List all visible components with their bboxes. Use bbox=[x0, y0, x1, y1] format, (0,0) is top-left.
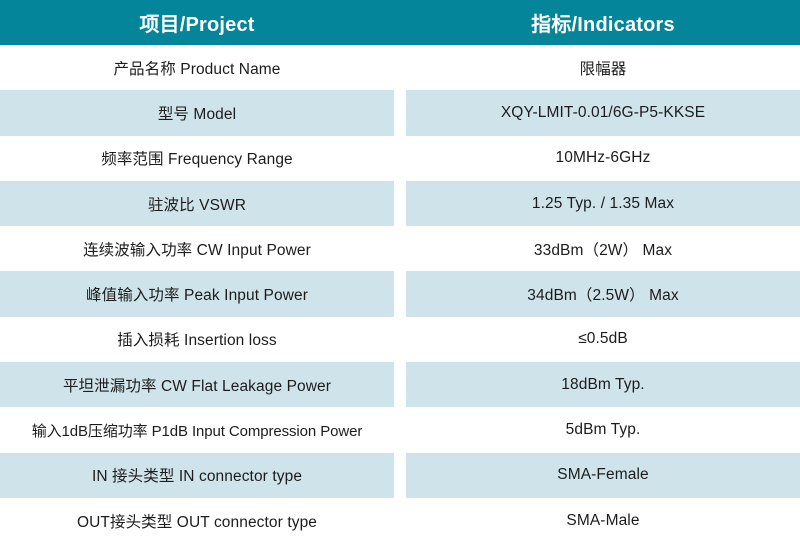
table-header-row: 项目/Project 指标/Indicators bbox=[0, 0, 800, 45]
row-value: SMA-Female bbox=[557, 466, 648, 484]
column-divider bbox=[394, 45, 406, 90]
row-label: 连续波输入功率 CW Input Power bbox=[83, 238, 311, 260]
row-value: 34dBm（2.5W） Max bbox=[527, 283, 678, 305]
column-divider bbox=[394, 136, 406, 181]
table-row: 产品名称 Product Name 限幅器 bbox=[0, 45, 800, 90]
table-row: OUT接头类型 OUT connector type SMA-Male bbox=[0, 498, 800, 544]
table-row: 平坦泄漏功率 CW Flat Leakage Power 18dBm Typ. bbox=[0, 362, 800, 407]
row-label: 输入1dB压缩功率 P1dB Input Compression Power bbox=[32, 420, 363, 441]
column-divider bbox=[394, 407, 406, 452]
row-value: 1.25 Typ. / 1.35 Max bbox=[532, 195, 674, 213]
table-row: 型号 Model XQY-LMIT-0.01/6G-P5-KKSE bbox=[0, 90, 800, 135]
row-label: 产品名称 Product Name bbox=[113, 57, 280, 79]
row-label: 驻波比 VSWR bbox=[148, 193, 246, 215]
table-row: 输入1dB压缩功率 P1dB Input Compression Power 5… bbox=[0, 407, 800, 452]
row-value-cell: 限幅器 bbox=[406, 45, 800, 90]
row-value: 10MHz-6GHz bbox=[556, 149, 651, 167]
column-header-project: 项目/Project bbox=[0, 0, 394, 45]
row-label: 型号 Model bbox=[158, 102, 236, 124]
row-label-cell: 连续波输入功率 CW Input Power bbox=[0, 226, 394, 271]
column-divider bbox=[394, 90, 406, 135]
column-divider bbox=[394, 498, 406, 544]
row-label-cell: 插入损耗 Insertion loss bbox=[0, 317, 394, 362]
row-value: 18dBm Typ. bbox=[561, 376, 644, 394]
row-value-cell: XQY-LMIT-0.01/6G-P5-KKSE bbox=[406, 90, 800, 135]
row-label: 平坦泄漏功率 CW Flat Leakage Power bbox=[63, 374, 331, 396]
row-value: SMA-Male bbox=[566, 512, 639, 530]
row-value: ≤0.5dB bbox=[578, 330, 628, 348]
row-value-cell: 33dBm（2W） Max bbox=[406, 226, 800, 271]
row-value: 限幅器 bbox=[580, 57, 627, 79]
row-label-cell: 驻波比 VSWR bbox=[0, 181, 394, 226]
column-header-indicators-label: 指标/Indicators bbox=[531, 8, 675, 37]
table-row: 峰值输入功率 Peak Input Power 34dBm（2.5W） Max bbox=[0, 271, 800, 316]
row-value-cell: SMA-Female bbox=[406, 453, 800, 498]
row-label: IN 接头类型 IN connector type bbox=[92, 464, 302, 486]
row-label: 峰值输入功率 Peak Input Power bbox=[86, 283, 308, 305]
row-label: 插入损耗 Insertion loss bbox=[117, 328, 277, 350]
row-label-cell: 平坦泄漏功率 CW Flat Leakage Power bbox=[0, 362, 394, 407]
row-value-cell: ≤0.5dB bbox=[406, 317, 800, 362]
row-label-cell: 峰值输入功率 Peak Input Power bbox=[0, 271, 394, 316]
table-row: 连续波输入功率 CW Input Power 33dBm（2W） Max bbox=[0, 226, 800, 271]
row-label: OUT接头类型 OUT connector type bbox=[77, 510, 317, 532]
column-divider bbox=[394, 226, 406, 271]
row-label-cell: 输入1dB压缩功率 P1dB Input Compression Power bbox=[0, 407, 394, 452]
column-divider bbox=[394, 271, 406, 316]
specification-table: 项目/Project 指标/Indicators 产品名称 Product Na… bbox=[0, 0, 800, 543]
column-divider bbox=[394, 181, 406, 226]
row-label-cell: 型号 Model bbox=[0, 90, 394, 135]
row-value-cell: 34dBm（2.5W） Max bbox=[406, 271, 800, 316]
row-value: XQY-LMIT-0.01/6G-P5-KKSE bbox=[501, 104, 705, 122]
row-label: 频率范围 Frequency Range bbox=[101, 147, 293, 169]
table-row: IN 接头类型 IN connector type SMA-Female bbox=[0, 453, 800, 498]
table-row: 驻波比 VSWR 1.25 Typ. / 1.35 Max bbox=[0, 181, 800, 226]
row-value-cell: 1.25 Typ. / 1.35 Max bbox=[406, 181, 800, 226]
row-value: 5dBm Typ. bbox=[566, 421, 641, 439]
column-divider bbox=[394, 362, 406, 407]
row-label-cell: 产品名称 Product Name bbox=[0, 45, 394, 90]
row-value-cell: 5dBm Typ. bbox=[406, 407, 800, 452]
row-label-cell: OUT接头类型 OUT connector type bbox=[0, 498, 394, 544]
row-value-cell: SMA-Male bbox=[406, 498, 800, 544]
table-row: 插入损耗 Insertion loss ≤0.5dB bbox=[0, 317, 800, 362]
table-row: 频率范围 Frequency Range 10MHz-6GHz bbox=[0, 136, 800, 181]
column-divider bbox=[394, 453, 406, 498]
row-value-cell: 10MHz-6GHz bbox=[406, 136, 800, 181]
row-value-cell: 18dBm Typ. bbox=[406, 362, 800, 407]
column-header-indicators: 指标/Indicators bbox=[406, 0, 800, 45]
row-value: 33dBm（2W） Max bbox=[534, 238, 672, 260]
row-label-cell: IN 接头类型 IN connector type bbox=[0, 453, 394, 498]
column-divider bbox=[394, 317, 406, 362]
column-divider bbox=[394, 0, 406, 45]
row-label-cell: 频率范围 Frequency Range bbox=[0, 136, 394, 181]
column-header-project-label: 项目/Project bbox=[139, 8, 254, 37]
